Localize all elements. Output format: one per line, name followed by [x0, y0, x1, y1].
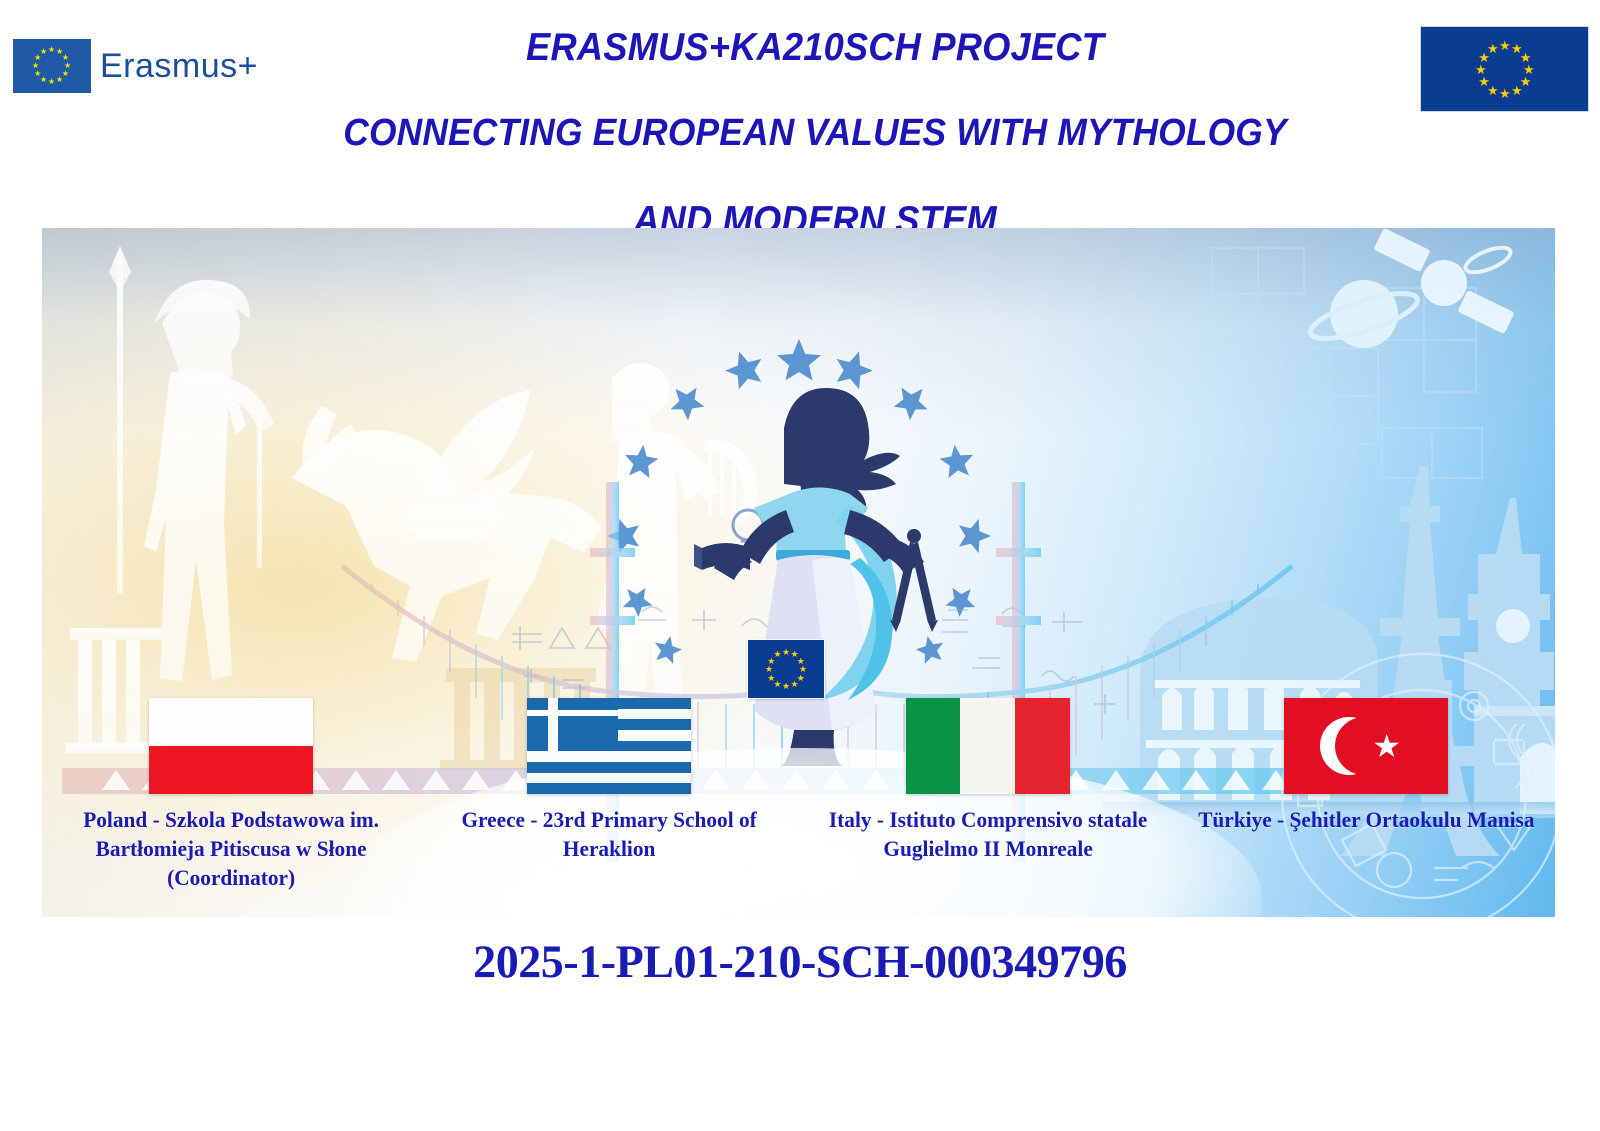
partner-italy: Italy - Istituto Comprensivo statale Gug…: [799, 698, 1177, 917]
greece-flag-icon: [527, 698, 691, 794]
left-mythology-scene: [66, 246, 758, 770]
erasmus-plus-logo: ★★★★★★★★★★★★ Erasmus+: [14, 40, 258, 92]
title-line-1: ERASMUS+KA210SCH PROJECT: [290, 26, 1341, 70]
page-header: ★★★★★★★★★★★★ Erasmus+ ERASMUS+KA210SCH P…: [0, 0, 1600, 228]
partner-poland: Poland - Szkola Podstawowa im. Bartłomie…: [42, 698, 420, 917]
project-code: 2025-1-PL01-210-SCH-000349796: [16, 935, 1584, 989]
partner-label-greece: Greece - 23rd Primary School of Heraklio…: [426, 805, 793, 863]
partner-label-italy: Italy - Istituto Comprensivo statale Gug…: [804, 805, 1171, 863]
partner-list: Poland - Szkola Podstawowa im. Bartłomie…: [42, 698, 1555, 917]
title-line-2: CONNECTING EUROPEAN VALUES WITH MYTHOLOG…: [290, 112, 1341, 155]
project-title: ERASMUS+KA210SCH PROJECT CONNECTING EURO…: [250, 6, 1380, 243]
italy-flag-icon: [906, 698, 1070, 794]
partner-label-poland: Poland - Szkola Podstawowa im. Bartłomie…: [48, 805, 415, 892]
european-union-flag-icon: ★★★★★★★★★★★★: [1421, 27, 1588, 111]
erasmus-plus-wordmark: Erasmus+: [100, 47, 258, 86]
turkiye-flag-icon: ★: [1284, 698, 1448, 794]
european-union-flag-center-icon: ★★★★★★★★★★★★: [748, 640, 824, 698]
poland-flag-icon: [149, 698, 313, 794]
project-banner-image: ★★★★★★★★★★★★ Poland - Szkola Podstawowa …: [42, 228, 1555, 917]
erasmus-eu-flag-icon: ★★★★★★★★★★★★: [14, 40, 90, 92]
partner-turkiye: ★ Türkiye - Şehitler Ortaokulu Manisa: [1177, 698, 1555, 917]
partner-label-turkiye: Türkiye - Şehitler Ortaokulu Manisa: [1198, 805, 1534, 834]
partner-greece: Greece - 23rd Primary School of Heraklio…: [420, 698, 798, 917]
